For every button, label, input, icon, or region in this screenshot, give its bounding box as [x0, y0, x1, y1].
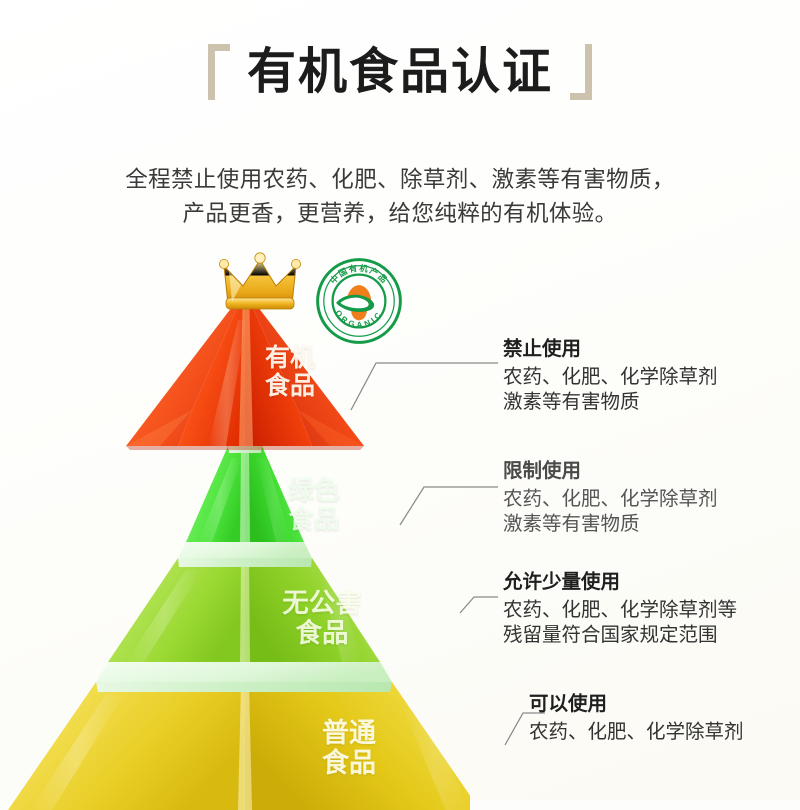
decorative-bracket-left-icon — [208, 44, 217, 100]
crown-icon — [216, 252, 320, 314]
annotation-organic-line-2: 激素等有害物质 — [503, 390, 718, 416]
page-header: 有机食品认证 — [0, 44, 800, 100]
subtitle-line-2: 产品更香，更营养，给您纯粹的有机体验。 — [0, 197, 800, 231]
annotation-pollution-free: 允许少量使用 农药、化肥、化学除草剂等 残留量符合国家规定范围 — [503, 570, 737, 649]
infographic-canvas: 有机食品认证 全程禁止使用农药、化肥、除草剂、激素等有害物质， 产品更香，更营养… — [0, 0, 800, 800]
annotation-organic-line-1: 农药、化肥、化学除草剂 — [503, 365, 718, 391]
annotation-ordinary: 可以使用 农药、化肥、化学除草剂 — [529, 692, 744, 745]
annotation-green-line-1: 农药、化肥、化学除草剂 — [503, 487, 718, 513]
annotation-organic: 禁止使用 农药、化肥、化学除草剂 激素等有害物质 — [503, 337, 718, 416]
annotation-green: 限制使用 农药、化肥、化学除草剂 激素等有害物质 — [503, 459, 718, 538]
annotation-green-line-2: 激素等有害物质 — [503, 512, 718, 538]
annotation-pollution-free-line-2: 残留量符合国家规定范围 — [503, 623, 737, 649]
annotation-ordinary-head: 可以使用 — [529, 692, 744, 718]
decorative-bracket-right-icon — [583, 44, 592, 100]
annotation-ordinary-line-1: 农药、化肥、化学除草剂 — [529, 720, 744, 746]
organic-certification-seal-icon: 中国有机产品 ORGANIC — [315, 257, 403, 345]
subtitle-line-1: 全程禁止使用农药、化肥、除草剂、激素等有害物质， — [0, 163, 800, 197]
subtitle-block: 全程禁止使用农药、化肥、除草剂、激素等有害物质， 产品更香，更营养，给您纯粹的有… — [0, 163, 800, 231]
annotation-pollution-free-line-1: 农药、化肥、化学除草剂等 — [503, 598, 737, 624]
page-title: 有机食品认证 — [247, 48, 553, 97]
annotation-green-head: 限制使用 — [503, 459, 718, 485]
annotation-pollution-free-head: 允许少量使用 — [503, 570, 737, 596]
annotation-organic-head: 禁止使用 — [503, 337, 718, 363]
